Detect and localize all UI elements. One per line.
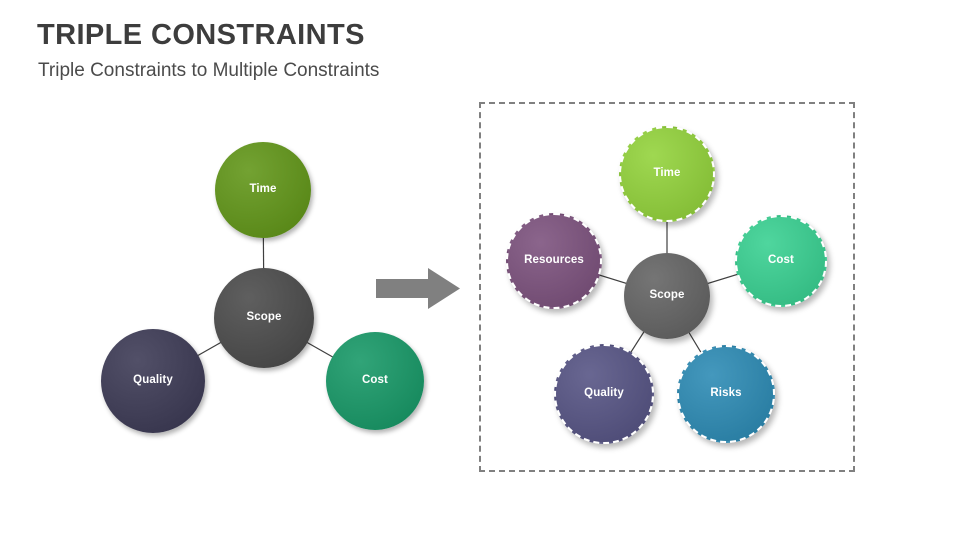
- right-node-resources[interactable]: Resources: [506, 213, 602, 309]
- left-node-time[interactable]: Time: [215, 142, 311, 238]
- node-label: Cost: [768, 255, 794, 267]
- node-label: Resources: [524, 255, 584, 267]
- right-node-cost[interactable]: Cost: [735, 215, 827, 307]
- node-label: Cost: [362, 375, 388, 387]
- node-label: Scope: [246, 312, 281, 324]
- node-label: Scope: [649, 290, 684, 302]
- slide-canvas: TRIPLE CONSTRAINTS Triple Constraints to…: [0, 0, 960, 540]
- left-node-scope[interactable]: Scope: [214, 268, 314, 368]
- node-label: Risks: [710, 388, 741, 400]
- page-subtitle: Triple Constraints to Multiple Constrain…: [38, 60, 379, 82]
- node-label: Time: [249, 184, 276, 196]
- right-node-risks[interactable]: Risks: [677, 345, 775, 443]
- right-arrow-icon: [376, 268, 460, 310]
- right-node-scope[interactable]: Scope: [624, 253, 710, 339]
- node-label: Quality: [133, 375, 173, 387]
- right-node-time[interactable]: Time: [619, 126, 715, 222]
- node-label: Time: [653, 168, 680, 180]
- page-title: TRIPLE CONSTRAINTS: [37, 19, 365, 52]
- left-node-quality[interactable]: Quality: [101, 329, 205, 433]
- left-node-cost[interactable]: Cost: [326, 332, 424, 430]
- node-label: Quality: [584, 388, 624, 400]
- right-node-quality[interactable]: Quality: [554, 344, 654, 444]
